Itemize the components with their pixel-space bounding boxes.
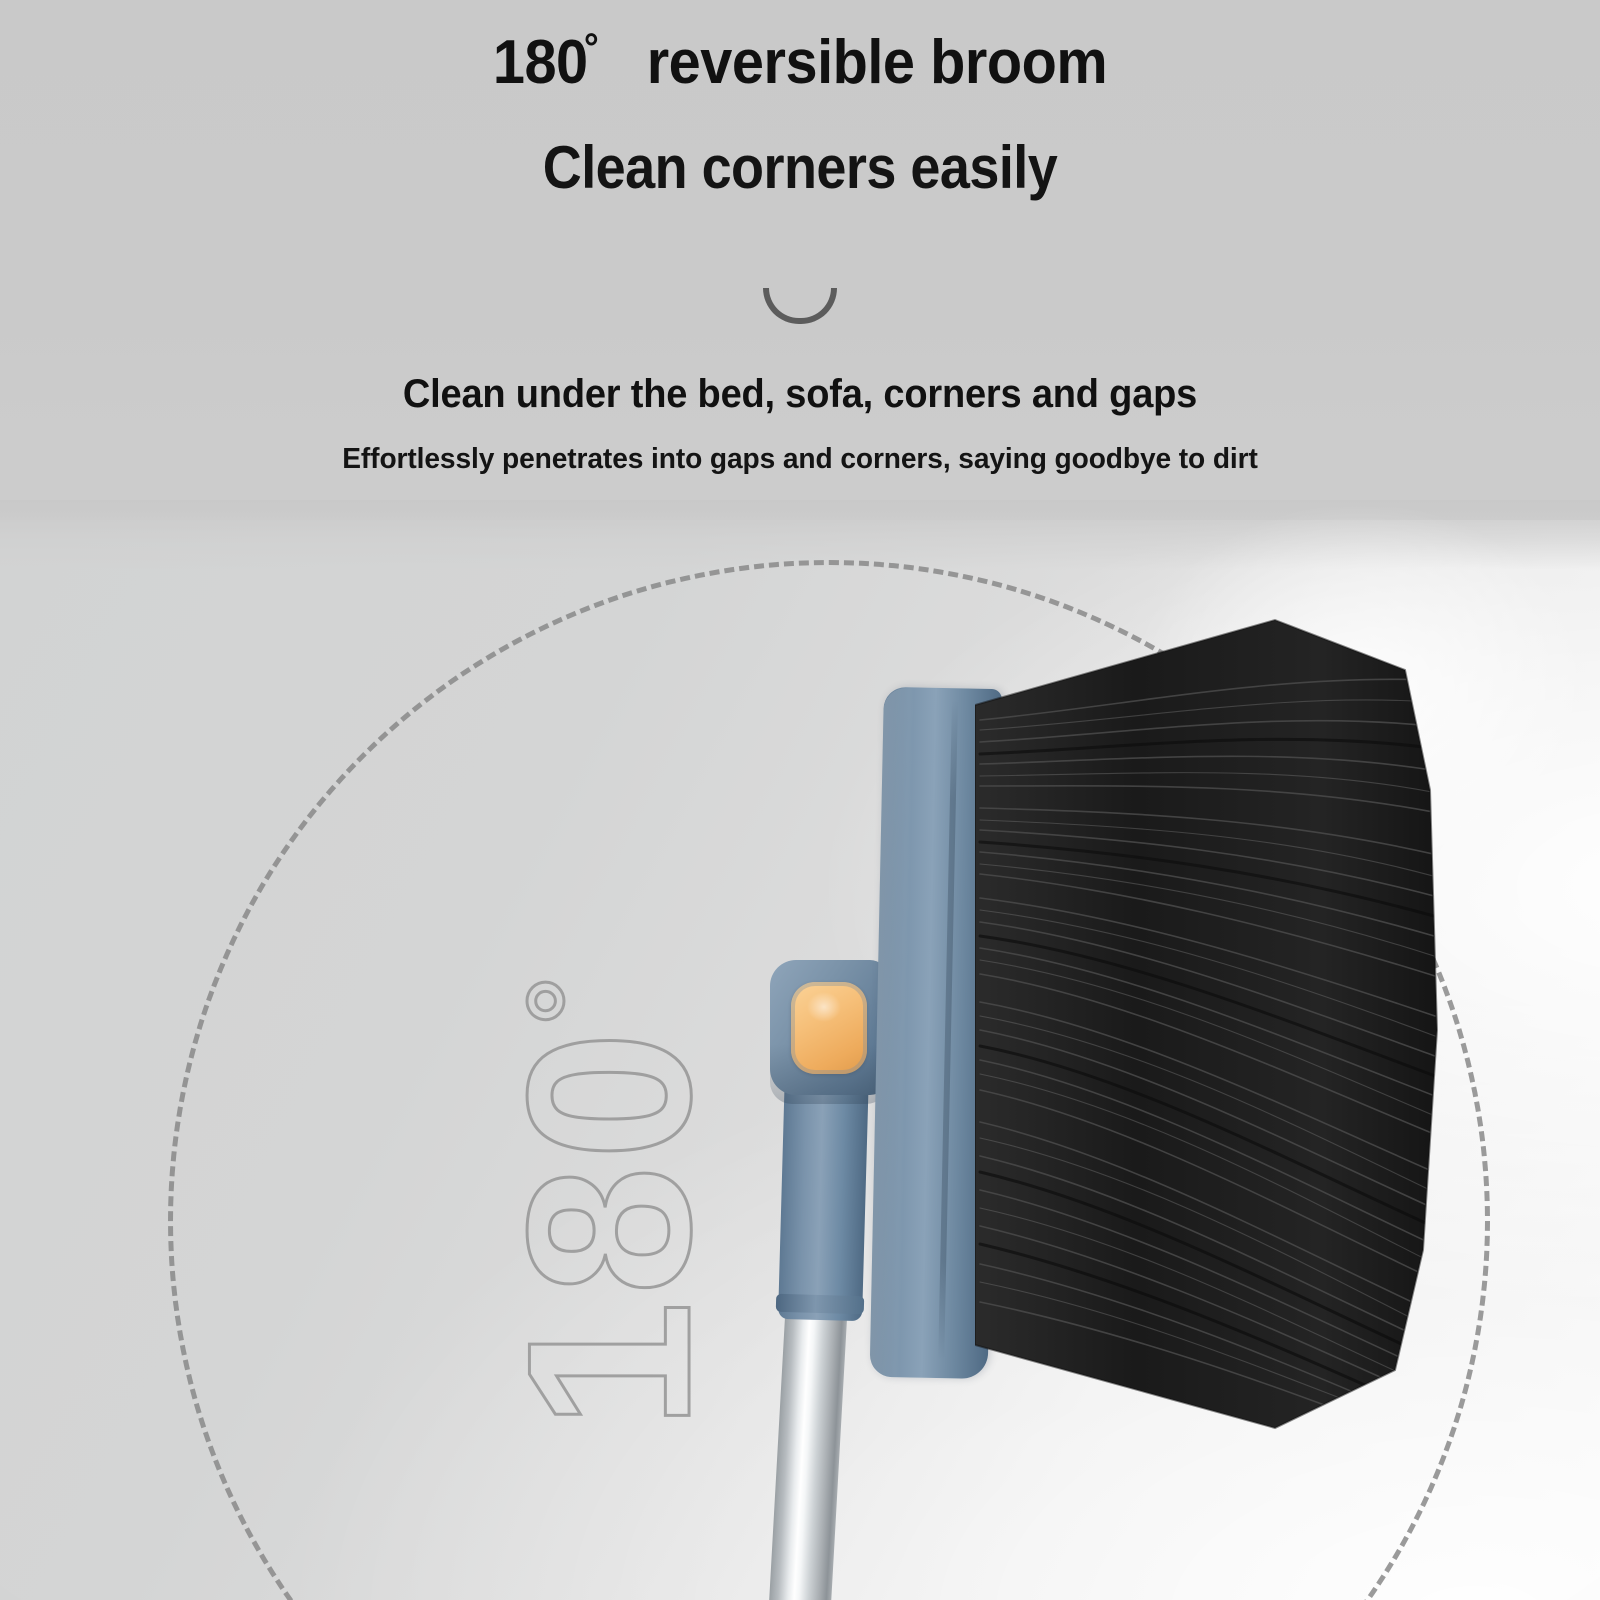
feature-line-primary: Clean under the bed, sofa, corners and g…: [40, 372, 1560, 417]
arc-divider-icon: [763, 288, 837, 324]
title-rest: reversible broom: [647, 28, 1107, 97]
arc-divider: [0, 288, 1600, 348]
page-title: 180°reversible broom: [56, 32, 1544, 94]
banner-page: 180°reversible broom Clean corners easil…: [0, 0, 1600, 1600]
degree-symbol-icon: °: [584, 26, 598, 70]
feature-line-secondary: Effortlessly penetrates into gaps and co…: [24, 443, 1576, 476]
background-seam: [0, 500, 1600, 570]
header-block: 180°reversible broom Clean corners easil…: [0, 0, 1600, 198]
page-subtitle: Clean corners easily: [80, 138, 1520, 198]
title-number: 180: [493, 28, 588, 97]
